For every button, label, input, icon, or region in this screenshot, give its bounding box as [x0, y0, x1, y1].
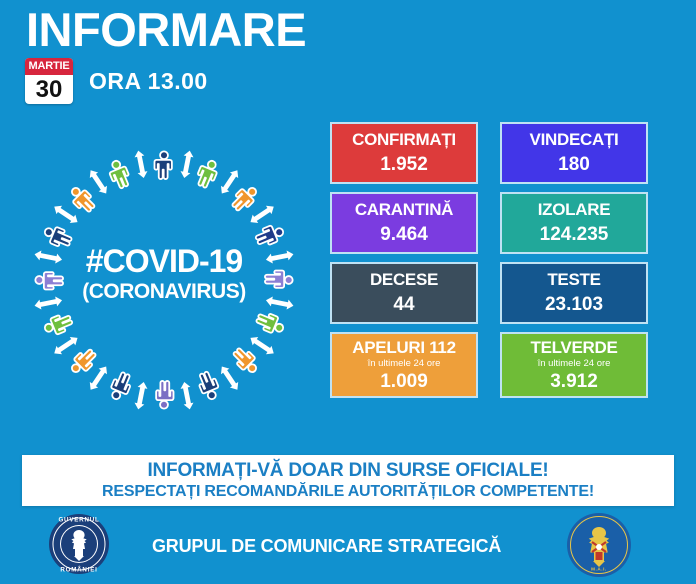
- distance-arrow-icon: [133, 381, 148, 410]
- stat-label-teste: TESTE: [547, 269, 600, 290]
- stat-value-telverde: 3.912: [550, 370, 598, 394]
- distance-arrow-icon: [51, 334, 80, 358]
- header: INFORMARE MARTIE 30 ORA 13.00: [0, 0, 696, 112]
- guvernul-romaniei-seal-icon: GUVERNUL ROMÂNIEI: [48, 513, 110, 580]
- person-figure-icon: [229, 182, 261, 214]
- stat-value-vindecati: 180: [558, 153, 590, 177]
- page-title: INFORMARE: [26, 4, 306, 56]
- stat-row: CONFIRMAȚI1.952VINDECAȚI180: [330, 122, 670, 184]
- covid-sub-label: (CORONAVIRUS): [14, 279, 314, 305]
- person-figure-icon: [230, 345, 262, 377]
- stat-box-izolare: IZOLARE124.235: [500, 192, 648, 254]
- person-figure-icon: [106, 158, 133, 190]
- svg-text:M.A.I.: M.A.I.: [591, 567, 607, 572]
- person-figure-icon: [67, 346, 99, 378]
- person-figure-icon: [154, 151, 171, 179]
- distance-arrow-icon: [86, 167, 110, 196]
- stat-box-apeluri-112: APELURI 112în ultimele 24 ore1.009: [330, 332, 478, 398]
- stat-box-confirmati: CONFIRMAȚI1.952: [330, 122, 478, 184]
- stats-grid: CONFIRMAȚI1.952VINDECAȚI180CARANTINĂ9.46…: [330, 122, 670, 406]
- stat-label-carantina: CARANTINĂ: [355, 199, 453, 220]
- distance-arrow-icon: [179, 381, 194, 410]
- banner-line-2: RESPECTAȚI RECOMANDĂRILE AUTORITĂȚILOR C…: [102, 482, 594, 502]
- person-figure-icon: [254, 310, 286, 337]
- stat-value-apeluri-112: 1.009: [380, 370, 428, 394]
- distance-arrow-icon: [248, 202, 277, 226]
- stat-value-carantina: 9.464: [380, 223, 428, 247]
- person-figure-icon: [107, 370, 134, 402]
- stat-label-apeluri-112: APELURI 112: [352, 337, 455, 358]
- dsu-mai-emblem-icon: M.A.I.: [566, 512, 632, 583]
- stat-label-vindecati: VINDECAȚI: [530, 129, 619, 150]
- social-distancing-circle-icon: #COVID-19 (CORONAVIRUS): [14, 118, 314, 443]
- hour-label: ORA 13.00: [89, 68, 208, 95]
- footer: GUVERNUL ROMÂNIEI GRUPUL DE COMUNICARE S…: [0, 508, 696, 584]
- stat-label-telverde: TELVERDE: [530, 337, 617, 358]
- person-figure-icon: [42, 311, 74, 338]
- distance-arrow-icon: [179, 150, 194, 179]
- calendar-icon: MARTIE 30: [25, 58, 73, 104]
- banner-line-1: INFORMAȚI-VĂ DOAR DIN SURSE OFICIALE!: [147, 459, 548, 482]
- stat-row: CARANTINĂ9.464IZOLARE124.235: [330, 192, 670, 254]
- person-figure-icon: [156, 381, 173, 409]
- footer-text: GRUPUL DE COMUNICARE STRATEGICĂ: [152, 536, 552, 557]
- distance-arrow-icon: [133, 150, 148, 179]
- stat-row: DECESE44TESTE23.103: [330, 262, 670, 324]
- stat-row: APELURI 112în ultimele 24 ore1.009TELVER…: [330, 332, 670, 398]
- stat-note-apeluri-112: în ultimele 24 ore: [368, 358, 441, 369]
- stat-box-decese: DECESE44: [330, 262, 478, 324]
- calendar-month-label: MARTIE: [25, 58, 73, 75]
- stat-box-carantina: CARANTINĂ9.464: [330, 192, 478, 254]
- stat-value-izolare: 124.235: [540, 223, 609, 247]
- stat-box-telverde: TELVERDEîn ultimele 24 ore3.912: [500, 332, 648, 398]
- stat-label-confirmati: CONFIRMAȚI: [352, 129, 456, 150]
- person-figure-icon: [66, 183, 98, 215]
- stat-box-teste: TESTE23.103: [500, 262, 648, 324]
- official-sources-banner: INFORMAȚI-VĂ DOAR DIN SURSE OFICIALE! RE…: [22, 455, 674, 506]
- covid-main-label: #COVID-19: [14, 243, 314, 279]
- covid-label-group: #COVID-19 (CORONAVIRUS): [14, 243, 314, 305]
- stat-value-teste: 23.103: [545, 293, 603, 317]
- stat-note-telverde: în ultimele 24 ore: [538, 358, 611, 369]
- calendar-day-label: 30: [25, 75, 73, 104]
- stat-label-decese: DECESE: [370, 269, 438, 290]
- distance-arrow-icon: [218, 364, 242, 393]
- svg-text:GUVERNUL: GUVERNUL: [58, 517, 99, 524]
- stat-value-decese: 44: [393, 293, 414, 317]
- date-row: MARTIE 30 ORA 13.00: [25, 58, 208, 104]
- stat-value-confirmati: 1.952: [380, 153, 428, 177]
- person-figure-icon: [195, 370, 222, 402]
- svg-text:ROMÂNIEI: ROMÂNIEI: [60, 567, 97, 574]
- person-figure-icon: [194, 158, 221, 190]
- stat-box-vindecati: VINDECAȚI180: [500, 122, 648, 184]
- stat-label-izolare: IZOLARE: [538, 199, 611, 220]
